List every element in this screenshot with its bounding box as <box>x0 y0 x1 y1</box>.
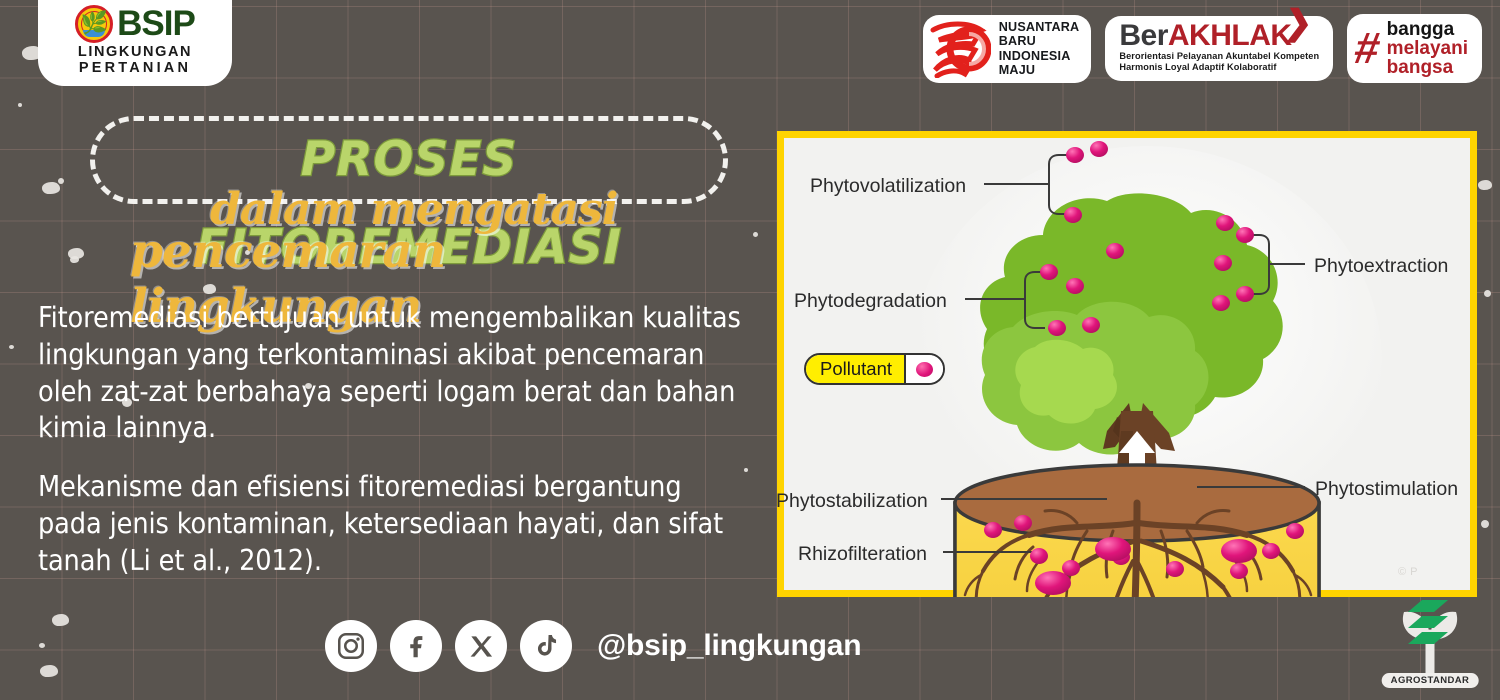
berakhlak-ber: Ber <box>1119 19 1168 52</box>
agrostandar-leaf-icon <box>1378 582 1482 686</box>
paint-splatter <box>42 182 60 194</box>
anniversary-line1: NUSANTARA <box>999 20 1080 34</box>
body-paragraph-2: Mekanisme dan efisiensi fitoremediasi be… <box>38 469 750 579</box>
social-handle: @bsip_lingkungan <box>597 629 861 663</box>
label-phytoextraction: Phytoextraction <box>1314 255 1448 278</box>
body-paragraph-1: Fitoremediasi bertujuan untuk mengembali… <box>38 300 750 447</box>
agrostandar-label: AGROSTANDAR <box>1382 673 1479 688</box>
paint-splatter <box>1481 520 1489 528</box>
anniversary-line4: MAJU <box>999 63 1080 77</box>
hashtag-icon: # <box>1352 31 1383 66</box>
label-phytostabilization: Phytostabilization <box>776 490 928 513</box>
bangga-melayani-bangsa-logo: # bangga melayani bangsa <box>1347 14 1482 83</box>
partner-logo-group: NUSANTARA BARU INDONESIA MAJU BerAKHLAK … <box>923 14 1482 83</box>
label-phytovolatilization: Phytovolatilization <box>810 175 966 198</box>
anniversary-tagline: NUSANTARA BARU INDONESIA MAJU <box>999 20 1080 76</box>
seal-leaf-glyph: 🌿 <box>80 12 107 34</box>
anniversary-79-logo: NUSANTARA BARU INDONESIA MAJU <box>923 15 1092 83</box>
berakhlak-tagline-line1: Berorientasi Pelayanan Akuntabel Kompete… <box>1119 51 1319 63</box>
facebook-icon[interactable] <box>390 620 442 672</box>
paint-splatter <box>753 232 758 237</box>
pollutant-legend-label: Pollutant <box>806 355 906 383</box>
bsip-subtitle-line1: LINGKUNGAN <box>78 44 192 60</box>
tiktok-icon[interactable] <box>520 620 572 672</box>
berakhlak-wordmark: BerAKHLAK ❯ <box>1119 22 1291 51</box>
seventy-nine-mark-icon <box>929 20 991 78</box>
paint-splatter <box>18 103 22 107</box>
label-phytodegradation: Phytodegradation <box>794 290 947 313</box>
berakhlak-akhlak: AKHLAK <box>1168 19 1292 52</box>
poster-canvas: 🌿 BSIP LINGKUNGAN PERTANIAN NUSANTARA BA… <box>0 0 1500 700</box>
bsip-subtitle-line2: PERTANIAN <box>79 60 191 76</box>
paint-splatter <box>52 614 69 626</box>
paint-splatter <box>9 345 14 349</box>
instagram-icon[interactable] <box>325 620 377 672</box>
anniversary-line3: INDONESIA <box>999 49 1080 63</box>
x-twitter-icon[interactable] <box>455 620 507 672</box>
bangga-line3: bangsa <box>1387 58 1468 77</box>
title-block: PROSES FITOREMEDIASI dalam mengatasi pen… <box>90 116 728 292</box>
bangga-line2: melayani <box>1387 39 1468 58</box>
diagram-inner: Phytovolatilization Phytodegradation Phy… <box>784 138 1470 590</box>
bsip-logo-row: 🌿 BSIP <box>75 4 195 44</box>
berakhlak-tagline-line2: Harmonis Loyal Adaptif Kolaboratif <box>1119 62 1276 74</box>
bsip-seal-icon: 🌿 <box>75 5 113 43</box>
paint-splatter <box>58 178 64 184</box>
chevron-right-icon: ❯ <box>1282 7 1313 40</box>
paint-splatter <box>1478 180 1492 190</box>
pollutant-dot-icon <box>916 362 933 377</box>
phytoremediation-diagram-panel: Phytovolatilization Phytodegradation Phy… <box>777 131 1477 597</box>
bangga-wordmark: bangga melayani bangsa <box>1387 20 1468 77</box>
pollutant-legend-swatch <box>906 355 943 383</box>
social-media-bar: @bsip_lingkungan <box>325 620 861 672</box>
body-text-block: Fitoremediasi bertujuan untuk mengembali… <box>38 300 750 579</box>
anniversary-line2: BARU <box>999 34 1080 48</box>
berakhlak-logo: BerAKHLAK ❯ Berorientasi Pelayanan Akunt… <box>1105 16 1333 81</box>
paint-splatter <box>70 256 79 263</box>
bsip-wordmark: BSIP <box>117 4 195 44</box>
label-phytostimulation: Phytostimulation <box>1315 478 1458 501</box>
label-rhizofilteration: Rhizofilteration <box>798 543 927 566</box>
bangga-line1: bangga <box>1387 20 1468 39</box>
bsip-logo-card: 🌿 BSIP LINGKUNGAN PERTANIAN <box>38 0 232 86</box>
paint-splatter <box>40 665 58 677</box>
diagram-copyright: © P <box>1398 566 1418 578</box>
agrostandar-logo: AGROSTANDAR <box>1378 582 1482 692</box>
paint-splatter <box>1484 290 1491 297</box>
paint-splatter <box>39 643 45 648</box>
pollutant-legend: Pollutant <box>804 353 945 385</box>
